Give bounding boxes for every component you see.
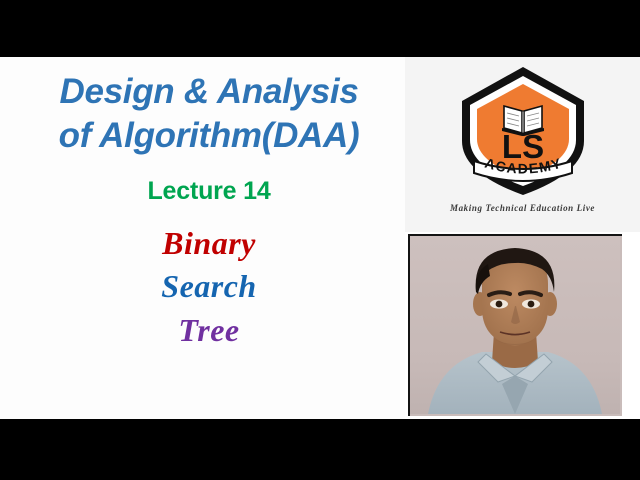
topic-word-binary: Binary: [14, 225, 404, 262]
letterbox-bar-top: [0, 0, 640, 57]
course-title: Design & Analysis of Algorithm(DAA): [14, 70, 404, 158]
video-slide: Design & Analysis of Algorithm(DAA) Lect…: [0, 0, 640, 480]
logo-panel: LS ACADEMY Making Technical Education Li…: [405, 57, 640, 232]
lecture-number-label: Lecture 14: [14, 177, 404, 206]
shield-logo-icon: LS ACADEMY: [448, 61, 598, 201]
presenter-portrait-image: [410, 236, 620, 414]
logo-monogram-text: LS: [501, 128, 543, 165]
topic-word-search: Search: [14, 268, 404, 305]
course-title-line-1: Design & Analysis: [14, 70, 404, 114]
title-column: Design & Analysis of Algorithm(DAA) Lect…: [0, 57, 405, 419]
course-title-line-2: of Algorithm(DAA): [14, 114, 404, 158]
ls-academy-logo: LS ACADEMY: [448, 61, 598, 201]
letterbox-bar-bottom: [0, 419, 640, 480]
logo-tagline: Making Technical Education Live: [405, 203, 640, 213]
topic-word-tree: Tree: [14, 312, 404, 349]
slide-canvas: Design & Analysis of Algorithm(DAA) Lect…: [0, 57, 640, 419]
presenter-photo: [408, 234, 622, 416]
